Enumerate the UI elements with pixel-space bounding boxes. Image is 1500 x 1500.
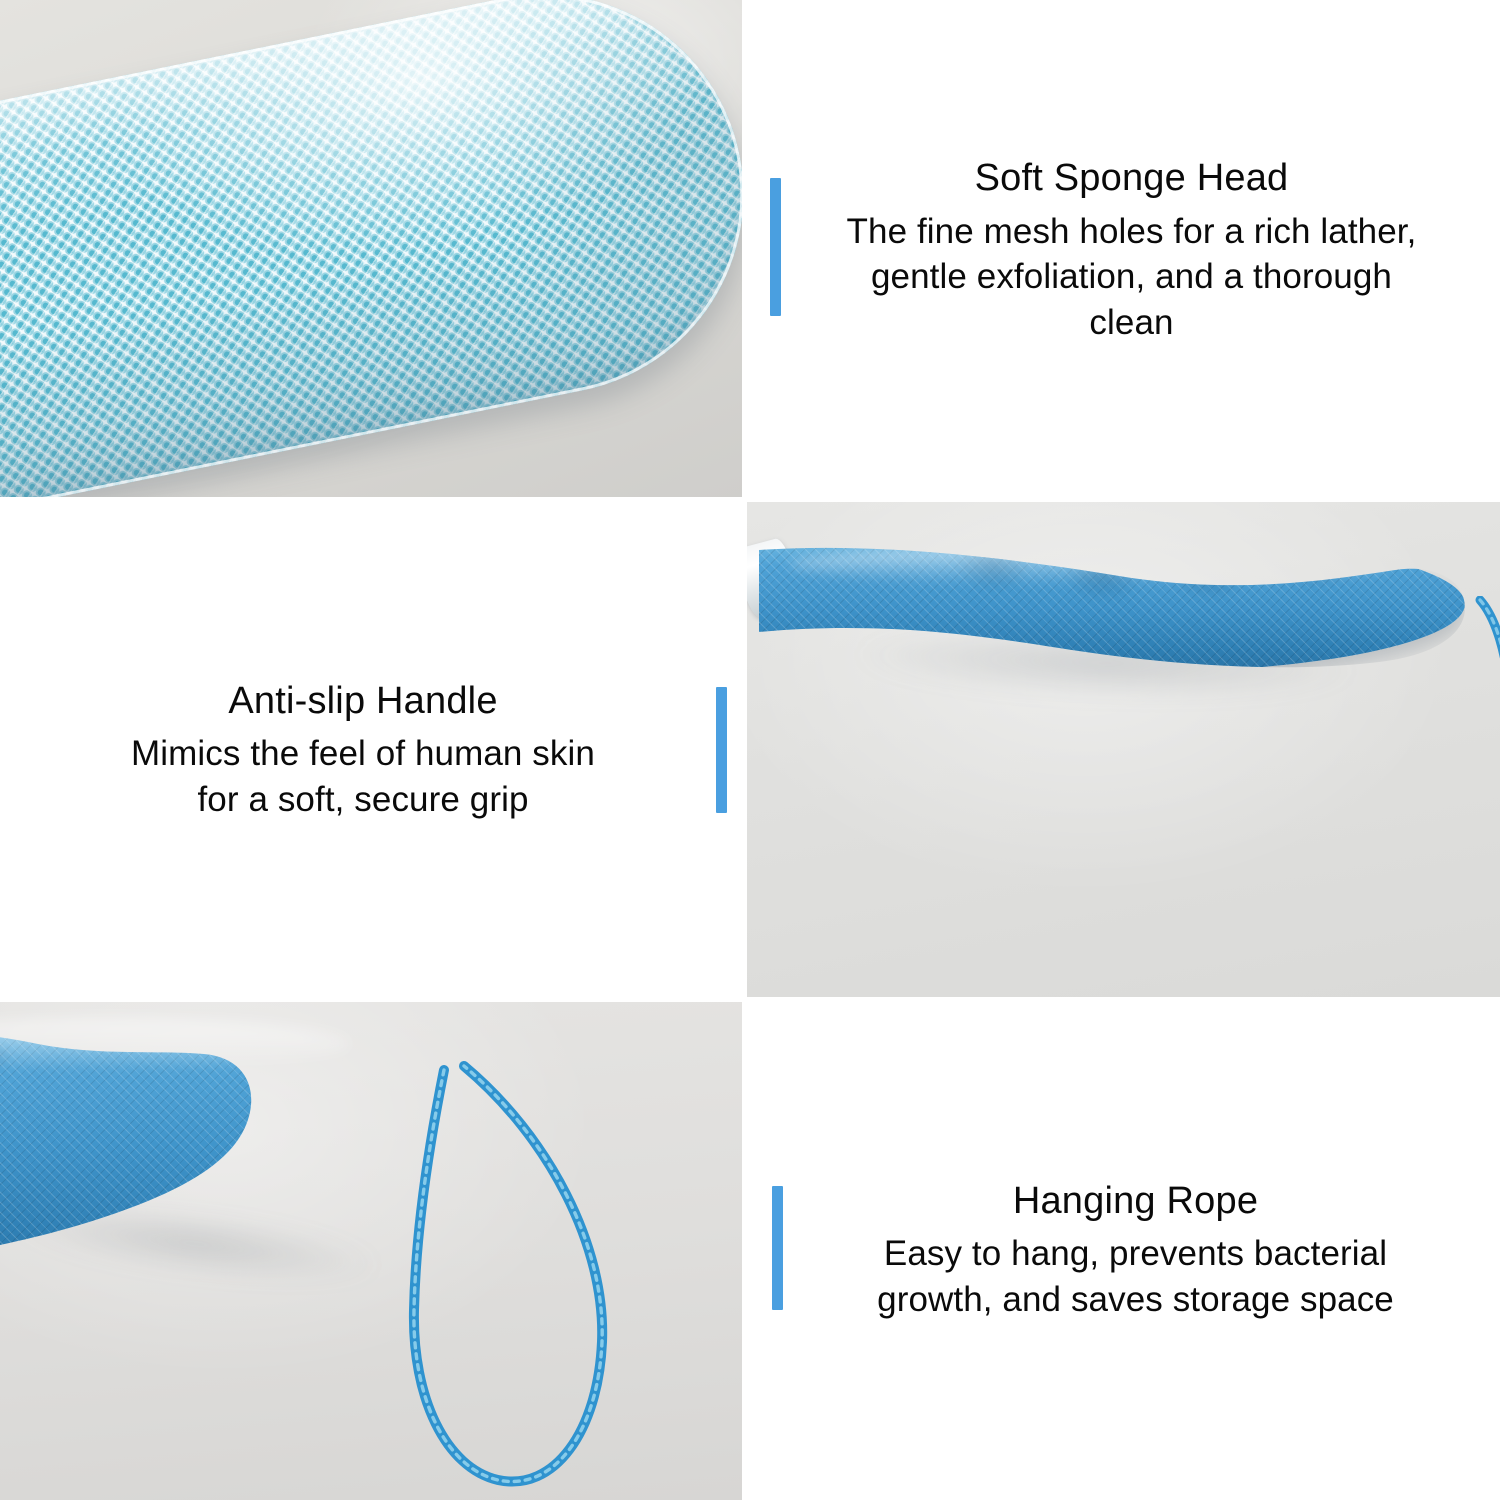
feature-title: Soft Sponge Head: [803, 155, 1460, 203]
photo-panel-handle: [745, 500, 1500, 1000]
grid-divider-horizontal: [0, 497, 1500, 502]
feature-text-block: Anti-slip Handle Mimics the feel of huma…: [34, 678, 692, 823]
feature-title: Hanging Rope: [803, 1178, 1468, 1226]
text-panel-anti-slip-handle: Anti-slip Handle Mimics the feel of huma…: [0, 500, 745, 1000]
accent-bar-icon: [716, 687, 727, 813]
accent-bar-icon: [772, 1186, 783, 1310]
grid-divider-horizontal: [0, 997, 1500, 1002]
feature-description: The fine mesh holes for a rich lather, g…: [803, 209, 1460, 346]
text-panel-soft-sponge-head: Soft Sponge Head The fine mesh holes for…: [745, 0, 1500, 500]
feature-description: Easy to hang, prevents bacterial growth,…: [803, 1231, 1468, 1322]
product-feature-infographic: Soft Sponge Head The fine mesh holes for…: [0, 0, 1500, 1500]
rope-loop: [380, 1060, 720, 1500]
text-panel-hanging-rope: Hanging Rope Easy to hang, prevents bact…: [745, 1000, 1500, 1500]
grid-divider-vertical: [742, 0, 747, 1500]
accent-bar-icon: [770, 178, 781, 316]
feature-description: Mimics the feel of human skin for a soft…: [34, 731, 692, 822]
feature-title: Anti-slip Handle: [34, 678, 692, 726]
photo-panel-hanging-rope: [0, 1000, 745, 1500]
feature-text-block: Soft Sponge Head The fine mesh holes for…: [803, 155, 1460, 345]
hanging-cord: [1450, 596, 1500, 1000]
photo-panel-sponge-head: [0, 0, 745, 500]
feature-text-block: Hanging Rope Easy to hang, prevents bact…: [803, 1178, 1468, 1323]
